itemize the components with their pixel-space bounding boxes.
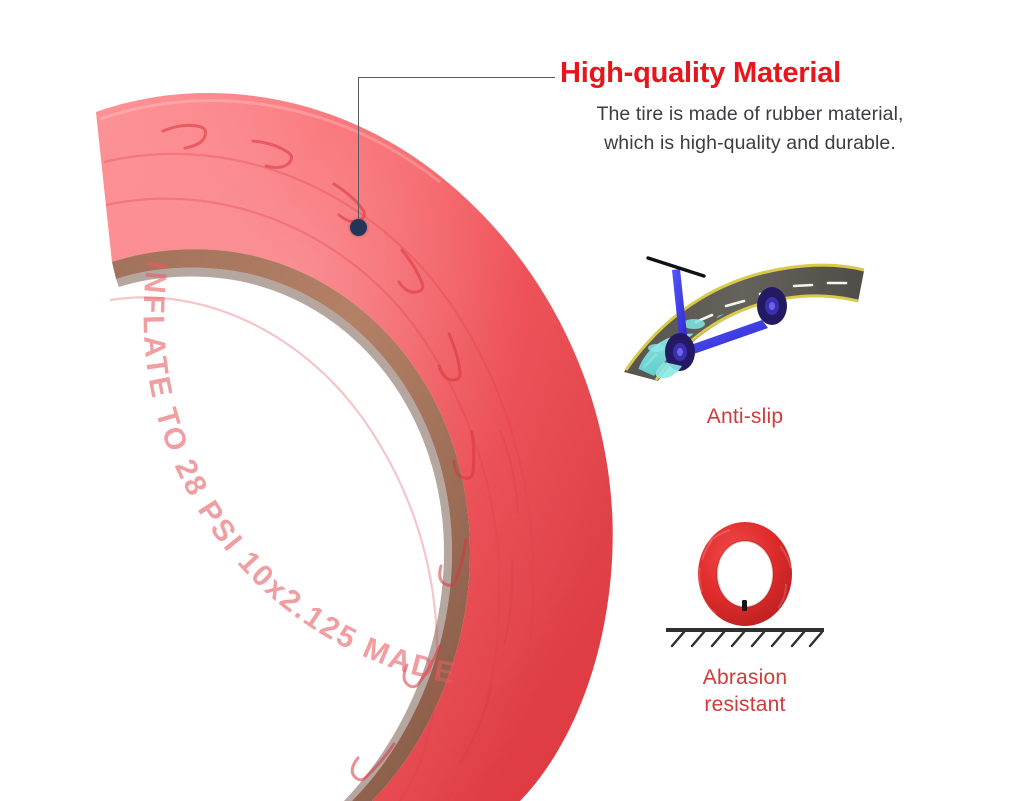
- valve-stem: [742, 600, 747, 611]
- feature-icon-anti-slip: Anti-slip: [620, 236, 870, 430]
- feature-description-line1: The tire is made of rubber material,: [596, 103, 903, 125]
- feature-description: The tire is made of rubber material, whi…: [520, 100, 980, 158]
- abrasion-caption-line2: resistant: [620, 691, 870, 718]
- infographic-canvas: INFLATE TO 28 PSI 10x2.125 MADE IN CHINA…: [0, 0, 1018, 801]
- feature-icon-abrasion-resistant: Abrasion resistant: [620, 512, 870, 718]
- ground-hatching: [672, 632, 822, 646]
- abrasion-illustration: [620, 512, 870, 652]
- road: [624, 265, 864, 381]
- tire-ring: [698, 522, 792, 626]
- callout-line-vertical: [358, 77, 359, 228]
- callout-line-horizontal: [358, 77, 555, 78]
- anti-slip-illustration: [620, 236, 870, 381]
- callout-anchor-dot: [350, 219, 367, 236]
- scooter-rear-wheel: [757, 287, 787, 325]
- anti-slip-caption: Anti-slip: [620, 403, 870, 430]
- feature-title: High-quality Material: [560, 57, 960, 90]
- scooter-on-wet-road-icon: [620, 236, 870, 381]
- abrasion-caption: Abrasion resistant: [620, 664, 870, 718]
- feature-description-line2: which is high-quality and durable.: [520, 129, 980, 158]
- tire-on-ground-icon: [620, 512, 870, 652]
- abrasion-caption-line1: Abrasion: [620, 664, 870, 691]
